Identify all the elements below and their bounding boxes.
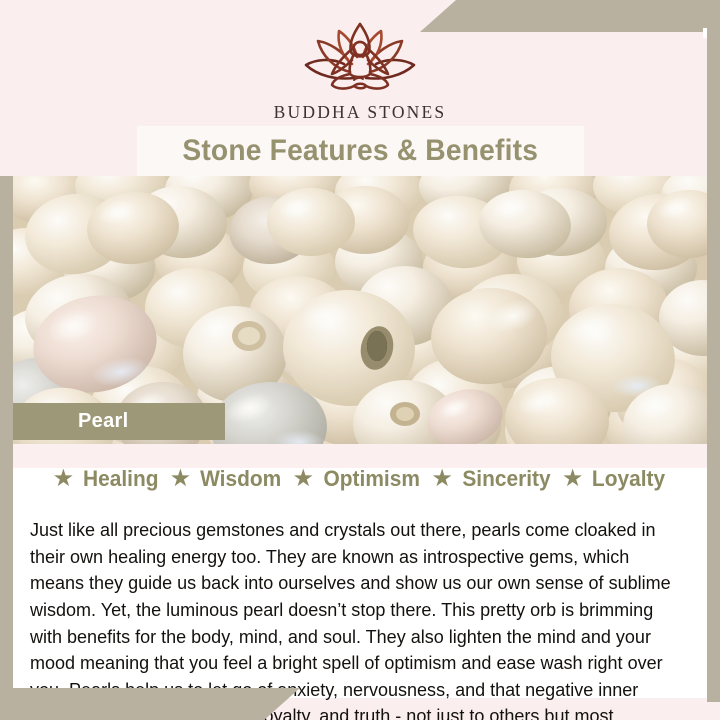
frame-edge-right [707,22,720,702]
content-top-tint [13,444,707,468]
star-icon: ★ [292,467,314,491]
title-banner: Stone Features & Benefits [137,126,584,176]
brand-name: BUDDHA STONES [260,102,460,123]
keyword-item-healing: ★ Healing [53,466,161,492]
frame-corner-top-right [420,0,720,32]
keyword-label: Sincerity [462,466,550,492]
brand-logo: BUDDHA STONES [260,18,460,123]
keyword-item-optimism: ★ Optimism [292,466,422,492]
photo-caption-label: Pearl [78,410,128,433]
keyword-item-wisdom: ★ Wisdom [170,466,284,492]
page-title: Stone Features & Benefits [183,134,539,168]
keyword-label: Healing [83,466,158,492]
stone-features-infographic: BUDDHA STONES Stone Features & Benefits [0,0,720,720]
frame-edge-left [0,176,13,706]
keyword-item-sincerity: ★ Sincerity [431,466,552,492]
keyword-list: ★ Healing ★ Wisdom ★ Optimism ★ Sincerit… [13,466,707,492]
keyword-label: Wisdom [200,466,281,492]
frame-notch-right [703,28,707,38]
star-icon: ★ [53,467,75,491]
star-icon: ★ [170,467,192,491]
content-panel: ★ Healing ★ Wisdom ★ Optimism ★ Sincerit… [13,444,707,698]
keyword-item-loyalty: ★ Loyalty [562,466,668,492]
frame-corner-bottom-left [0,688,300,720]
star-icon: ★ [562,467,584,491]
lotus-meditation-icon [292,18,428,96]
star-icon: ★ [431,467,453,491]
photo-caption-bar: Pearl [13,403,225,440]
keyword-label: Loyalty [592,466,665,492]
keyword-label: Optimism [323,466,419,492]
